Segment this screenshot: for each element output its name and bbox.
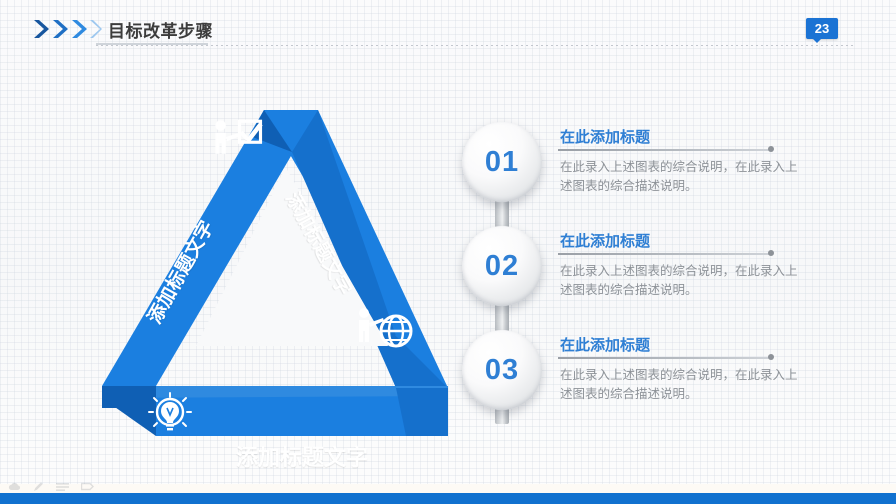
list-item[interactable]: 01 在此添加标题 在此录入上述图表的综合说明，在此录入上述图表的综合描述说明。 [458, 118, 858, 214]
step-number: 03 [485, 354, 519, 387]
penrose-triangle-graphic [96, 96, 468, 444]
steps-list: 01 在此添加标题 在此录入上述图表的综合说明，在此录入上述图表的综合描述说明。… [458, 118, 858, 438]
lines-icon [56, 481, 69, 492]
pen-icon [33, 481, 44, 492]
step-number: 01 [485, 146, 519, 179]
step-description: 在此录入上述图表的综合说明，在此录入上述图表的综合描述说明。 [560, 262, 808, 300]
header-dotted-divider [96, 45, 856, 46]
footer-strip [0, 484, 896, 493]
step-number-circle: 02 [462, 226, 542, 306]
page-number-badge: 23 [806, 18, 838, 39]
slide-header: 目标改革步骤 23 [0, 0, 896, 56]
step-rule [558, 357, 770, 359]
cloud-icon [8, 481, 21, 492]
footer-watermark-icons [8, 480, 118, 492]
page-title: 目标改革步骤 [108, 17, 213, 42]
list-item[interactable]: 03 在此添加标题 在此录入上述图表的综合说明，在此录入上述图表的综合描述说明。 [458, 326, 858, 422]
step-rule-end-dot [768, 250, 774, 256]
step-number-circle: 03 [462, 330, 542, 410]
step-number-circle: 01 [462, 122, 542, 202]
step-rule [558, 149, 770, 151]
slide-root: 目标改革步骤 23 [0, 0, 896, 504]
step-title: 在此添加标题 [560, 126, 650, 147]
tag-icon [81, 481, 94, 492]
step-rule-end-dot [768, 354, 774, 360]
step-description: 在此录入上述图表的综合说明，在此录入上述图表的综合描述说明。 [560, 366, 808, 404]
chevrons-right-icon [32, 18, 108, 40]
list-item[interactable]: 02 在此添加标题 在此录入上述图表的综合说明，在此录入上述图表的综合描述说明。 [458, 222, 858, 318]
step-number: 02 [485, 250, 519, 283]
step-rule-end-dot [768, 146, 774, 152]
step-title: 在此添加标题 [560, 334, 650, 355]
step-description: 在此录入上述图表的综合说明，在此录入上述图表的综合描述说明。 [560, 158, 808, 196]
penrose-triangle-infographic: 添加标题文字 添加标题文字 添加标题文字 [96, 96, 468, 444]
footer-accent-bar [0, 493, 896, 504]
step-title: 在此添加标题 [560, 230, 650, 251]
triangle-label-bottom: 添加标题文字 [236, 440, 368, 472]
step-rule [558, 253, 770, 255]
